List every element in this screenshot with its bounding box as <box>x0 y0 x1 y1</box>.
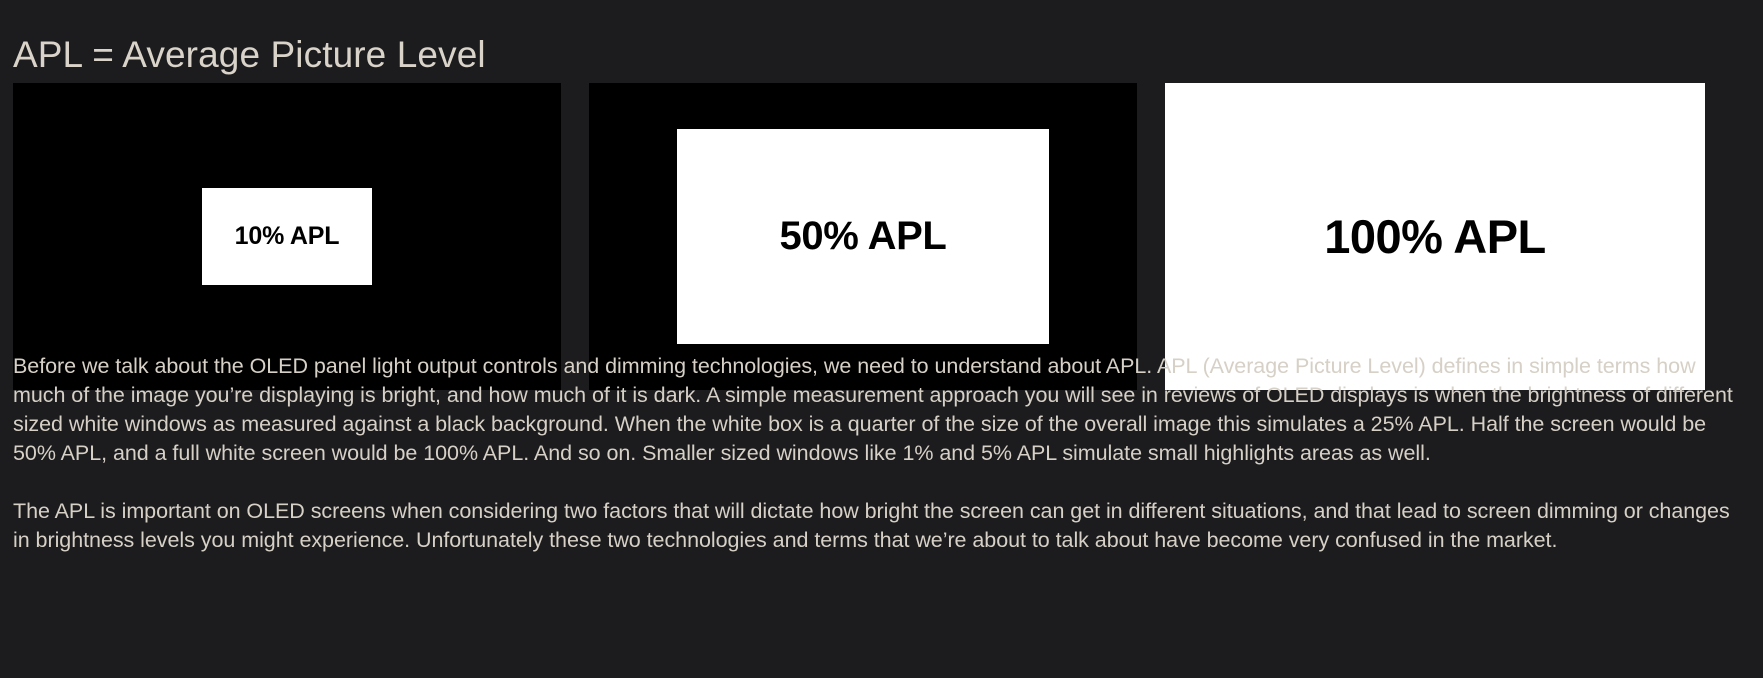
apl-panel-10: 10% APL <box>13 83 561 390</box>
apl-comparison-figure: 10% APL 50% APL 100% APL <box>13 83 1733 390</box>
apl-panel-100: 100% APL <box>1165 83 1705 390</box>
apl-window-50: 50% APL <box>677 129 1049 344</box>
apl-window-10: 10% APL <box>202 188 372 285</box>
apl-window-label-10: 10% APL <box>235 222 340 251</box>
article-paragraph-2: The APL is important on OLED screens whe… <box>13 497 1740 555</box>
article-page: APL = Average Picture Level 10% APL 50% … <box>0 0 1763 678</box>
article-paragraph-1: Before we talk about the OLED panel ligh… <box>13 352 1740 468</box>
article-body: Before we talk about the OLED panel ligh… <box>13 352 1740 555</box>
apl-window-label-100: 100% APL <box>1324 209 1546 264</box>
apl-window-label-50: 50% APL <box>780 214 947 259</box>
apl-panel-50: 50% APL <box>589 83 1137 390</box>
page-title: APL = Average Picture Level <box>13 33 486 77</box>
apl-window-100: 100% APL <box>1165 83 1705 390</box>
